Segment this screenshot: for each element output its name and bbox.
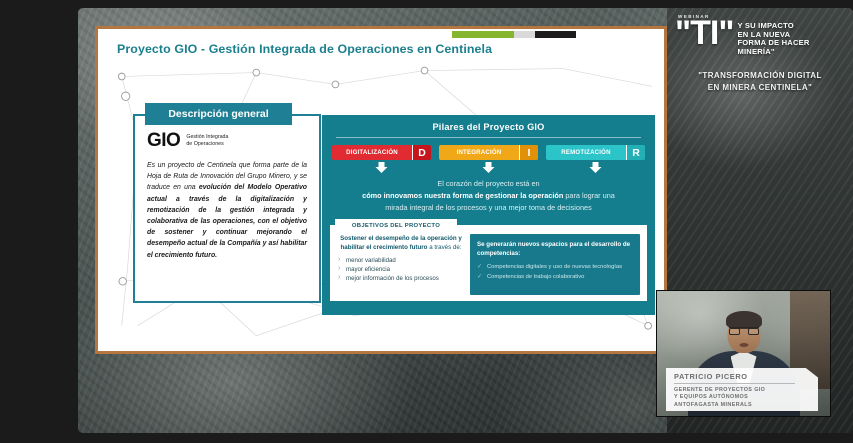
list-item: mayor eficiencia (337, 265, 465, 274)
speaker-role: GERENTE DE PROYECTOS GIO Y EQUIPOS AUTÓN… (674, 387, 812, 410)
pillar-name: INTEGRACIÓN (439, 145, 519, 160)
objectives-tab-label: OBJETIVOS DEL PROYECTO (335, 219, 457, 232)
pillar-badge-integracion: INTEGRACIÓN I (439, 145, 538, 160)
objectives-lead: Sostener el desempeño de la operación y … (337, 234, 465, 253)
slide-title: Proyecto GIO - Gestión Integrada de Oper… (117, 42, 492, 56)
pillar-name: DIGITALIZACIÓN (332, 145, 412, 160)
glasses-icon (729, 327, 759, 334)
list-item: Competencias de trabajo colaborativo (477, 272, 633, 282)
list-item: mejor información de los procesos (337, 274, 465, 283)
webinar-subtitle: "TRANSFORMACIÓN DIGITAL EN MINERA CENTIN… (673, 70, 847, 93)
role-line-3: ANTOFAGASTA MINERALS (674, 402, 752, 408)
down-arrow-icon (439, 162, 538, 173)
corporate-logo-strip (452, 31, 576, 38)
list-item: Competencias digitales y uso de nuevas t… (477, 262, 633, 272)
pillars-title: Pilares del Proyecto GIO (322, 115, 655, 132)
heart-line-3: mirada integral de los procesos y una me… (385, 203, 591, 212)
gio-logo-mark: GIO (147, 130, 180, 152)
objectives-panel: Sostener el desempeño de la operación y … (330, 225, 647, 301)
name-card-divider (674, 383, 795, 384)
pillar-badge-remotizacion: REMOTIZACIÓN R (546, 145, 645, 160)
objectives-list: menor variabilidad mayor eficiencia mejo… (337, 256, 465, 284)
speaker-name-card: PATRICIO PICERO GERENTE DE PROYECTOS GIO… (666, 368, 818, 411)
screen-share-stage: Proyecto GIO - Gestión Integrada de Oper… (0, 0, 853, 443)
ti-mark: "TI" (675, 20, 733, 47)
description-bold: evolución del Modelo Operativo actual a … (147, 184, 307, 258)
ti-title-row: "TI" Y SU IMPACTO EN LA NUEVA FORMA DE H… (675, 20, 845, 56)
ti-line-4: MINERÍA" (737, 47, 774, 56)
heart-bold: cómo innovamos nuestra forma de gestiona… (362, 191, 563, 200)
shared-screen-frame: Proyecto GIO - Gestión Integrada de Oper… (78, 8, 853, 433)
subtitle-line-1: "TRANSFORMACIÓN DIGITAL (698, 71, 822, 80)
pillar-arrow-row (322, 160, 655, 173)
competencies-heading: Se generarán nuevos espacios para el des… (477, 240, 633, 259)
competencies-list: Competencias digitales y uso de nuevas t… (477, 262, 633, 282)
heart-tail: para lograr una (563, 191, 615, 200)
pillars-heart-text: El corazón del proyecto está en cómo inn… (322, 173, 655, 214)
speaker-video-tile[interactable]: PATRICIO PICERO GERENTE DE PROYECTOS GIO… (656, 290, 831, 417)
list-item: menor variabilidad (337, 256, 465, 265)
role-line-1: GERENTE DE PROYECTOS GIO (674, 387, 765, 393)
down-arrow-icon (332, 162, 431, 173)
pillar-badge-digitalizacion: DIGITALIZACIÓN D (332, 145, 431, 160)
description-panel: GIO Gestión Integrada de Operaciones Es … (133, 114, 321, 303)
pillar-name: REMOTIZACIÓN (546, 145, 626, 160)
speaker-name: PATRICIO PICERO (674, 372, 812, 381)
pillar-letter: I (519, 145, 538, 160)
subtitle-line-2: EN MINERA CENTINELA" (708, 83, 812, 92)
gio-logo-subtitle: Gestión Integrada de Operaciones (186, 134, 228, 148)
pillar-badge-row: DIGITALIZACIÓN D INTEGRACIÓN I REMOTIZAC… (322, 138, 655, 160)
pillar-letter: R (626, 145, 645, 160)
ti-tagline: Y SU IMPACTO EN LA NUEVA FORMA DE HACER … (737, 22, 809, 56)
objectives-right-column: Se generarán nuevos espacios para el des… (470, 234, 640, 295)
presentation-slide: Proyecto GIO - Gestión Integrada de Oper… (95, 26, 667, 354)
webinar-logo-lockup: WEBINAR "TI" Y SU IMPACTO EN LA NUEVA FO… (675, 14, 845, 56)
description-body: Es un proyecto de Centinela que forma pa… (147, 160, 307, 261)
speaker-mouth (739, 343, 748, 347)
objectives-left-column: Sostener el desempeño de la operación y … (337, 234, 470, 295)
heart-line-1: El corazón del proyecto está en (437, 179, 539, 188)
objectives-lead-tail: a través de: (427, 244, 461, 251)
gio-logo: GIO Gestión Integrada de Operaciones (147, 130, 307, 152)
role-line-2: Y EQUIPOS AUTÓNOMOS (674, 394, 748, 400)
description-tab-label: Descripción general (145, 103, 292, 125)
pillars-panel: Pilares del Proyecto GIO DIGITALIZACIÓN … (322, 115, 655, 315)
pillar-letter: D (412, 145, 431, 160)
down-arrow-icon (546, 162, 645, 173)
